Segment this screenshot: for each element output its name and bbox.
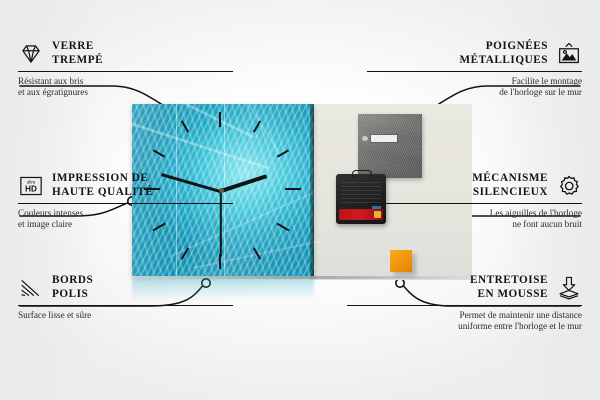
callout-title: IMPRESSION DE — [52, 172, 148, 184]
divider — [18, 71, 233, 72]
divider — [367, 71, 582, 72]
callout-description: Les aiguilles de l'horloge ne font aucun… — [367, 208, 582, 231]
callout-title: VERRE — [52, 40, 94, 52]
callout-description: Permet de maintenir une distance uniform… — [347, 310, 582, 333]
callout-description: Surface lisse et sûre — [18, 310, 233, 321]
callout-title-2: POLIS — [52, 288, 88, 300]
callout-title-2: HAUTE QUALITÉ — [52, 186, 153, 198]
callout-title-2: MÉTALLIQUES — [459, 54, 548, 66]
callout-entretoise-en-mousse: ENTRETOISEEN MOUSSE Permet de maintenir … — [347, 274, 582, 333]
callout-title: MÉCANISME — [472, 172, 548, 184]
callout-title-2: EN MOUSSE — [477, 288, 548, 300]
callout-description: Facilite le montage de l'horloge sur le … — [367, 76, 582, 99]
foam-spacer-press-icon — [556, 275, 582, 301]
callout-mecanisme-silencieux: MÉCANISMESILENCIEUX Les aiguilles de l'h… — [367, 172, 582, 231]
polished-edge-icon — [18, 275, 44, 301]
callout-description: Couleurs intenses et image claire — [18, 208, 233, 231]
callout-bords-polis: BORDSPOLIS Surface lisse et sûre — [18, 274, 233, 321]
divider — [18, 305, 233, 306]
callout-verre-trempe: VERRETREMPÉ Résistant aux bris et aux ég… — [18, 40, 233, 99]
diamond-icon — [18, 41, 44, 67]
callout-description: Résistant aux bris et aux égratignures — [18, 76, 233, 99]
ultra-hd-icon: ultra HD — [18, 173, 44, 199]
svg-text:HD: HD — [25, 184, 37, 193]
callout-title: BORDS — [52, 274, 93, 286]
divider — [347, 305, 582, 306]
infographic-canvas: VERRETREMPÉ Résistant aux bris et aux ég… — [0, 0, 600, 400]
svg-text:ultra: ultra — [27, 179, 36, 184]
wall-mount-frame-icon — [556, 41, 582, 67]
divider — [18, 203, 233, 204]
divider — [367, 203, 582, 204]
gear-icon — [556, 173, 582, 199]
callout-title: POIGNÉES — [486, 40, 548, 52]
callout-title: ENTRETOISE — [470, 274, 548, 286]
foam-spacer — [390, 250, 412, 272]
callout-poignees-metalliques: POIGNÉESMÉTALLIQUES Facilite le montage … — [367, 40, 582, 99]
metal-hanger-plate — [358, 114, 422, 178]
callout-title-2: TREMPÉ — [52, 54, 103, 66]
callout-title-2: SILENCIEUX — [473, 186, 548, 198]
callout-impression-haute-qualite: ultra HD IMPRESSION DEHAUTE QUALITÉ Coul… — [18, 172, 233, 231]
